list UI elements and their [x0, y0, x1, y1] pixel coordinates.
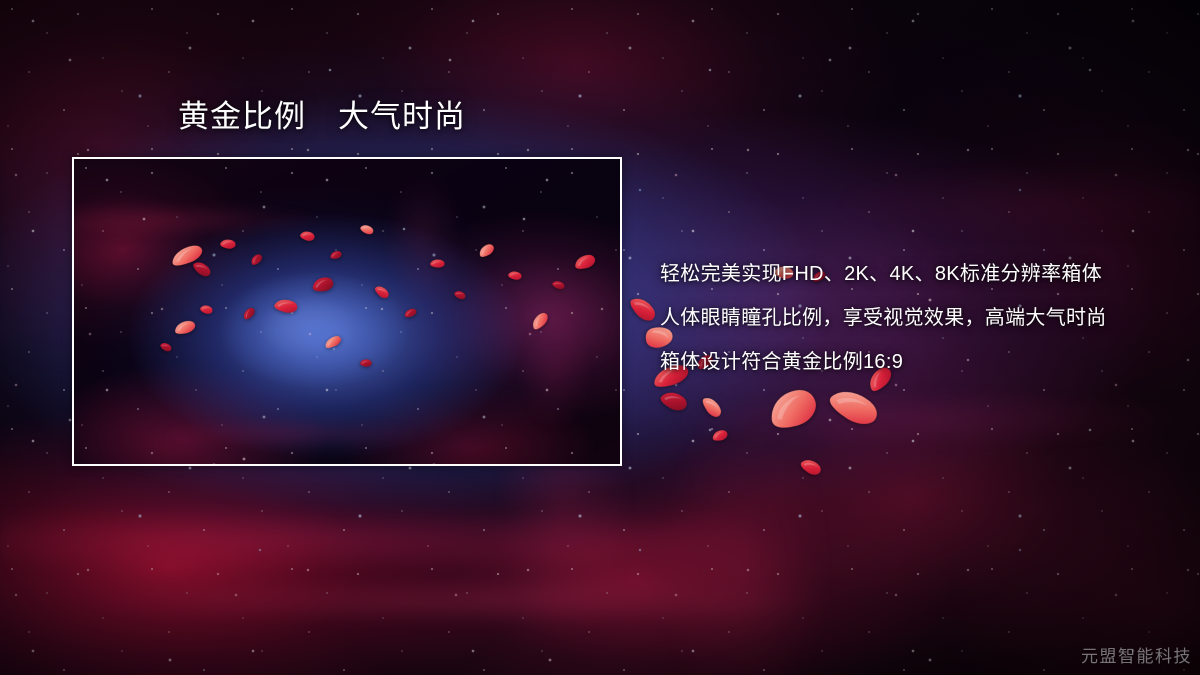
rose-petal: [657, 387, 690, 415]
nebula-photo-filaments: [74, 159, 620, 464]
rose-petal: [699, 393, 724, 421]
media-frame-panel[interactable]: [72, 157, 622, 466]
rose-petal: [711, 428, 729, 442]
slide-canvas: 黄金比例 大气时尚 轻松完美实现FHD、2K、4K、8K标准分辨率箱体 人体眼睛…: [0, 0, 1200, 675]
slide-title: 黄金比例 大气时尚: [178, 101, 466, 132]
rose-petal: [626, 292, 660, 326]
rose-petal: [763, 383, 823, 436]
body-line-3: 箱体设计符合黄金比例16:9: [660, 340, 1180, 384]
body-line-2: 人体眼睛瞳孔比例，享受视觉效果，高端大气时尚: [660, 296, 1180, 340]
body-text-block: 轻松完美实现FHD、2K、4K、8K标准分辨率箱体 人体眼睛瞳孔比例，享受视觉效…: [660, 252, 1180, 384]
rose-petal: [798, 455, 824, 479]
rose-petal: [824, 381, 884, 433]
body-line-1: 轻松完美实现FHD、2K、4K、8K标准分辨率箱体: [660, 252, 1180, 296]
watermark-text: 元盟智能科技: [1081, 642, 1192, 667]
